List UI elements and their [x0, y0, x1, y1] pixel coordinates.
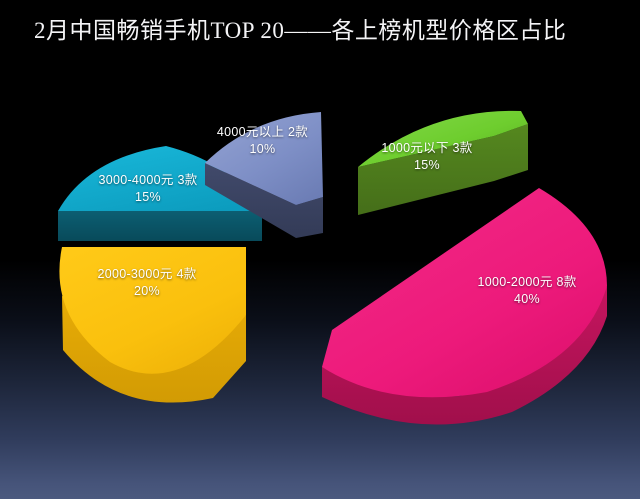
- pie-slice-1000-2000[interactable]: [322, 188, 607, 424]
- pie-slice-3000-4000-side: [58, 211, 262, 241]
- pie-chart-graphic: [0, 0, 640, 499]
- pie-slice-below-1000[interactable]: [358, 111, 528, 215]
- chart-canvas: 2月中国畅销手机TOP 20——各上榜机型价格区占比: [0, 0, 640, 499]
- pie-slice-2000-3000[interactable]: [59, 247, 246, 403]
